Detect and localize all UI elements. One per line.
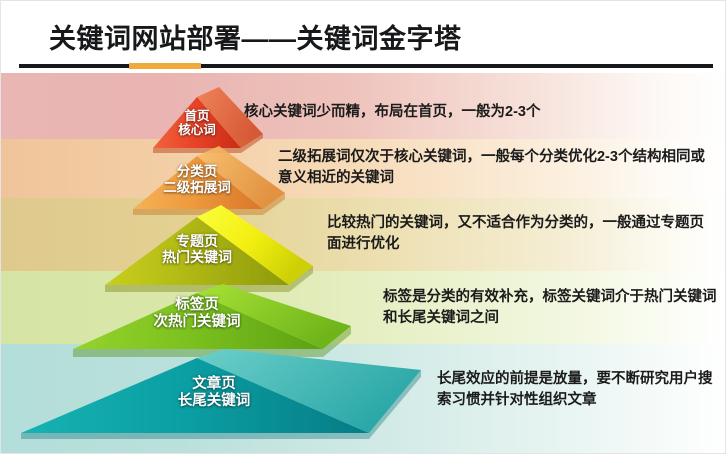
tier-label-line1: 分类页 <box>129 164 265 180</box>
slide-canvas: 关键词网站部署——关键词金字塔 <box>0 0 726 454</box>
tier-label-category: 分类页 二级拓展词 <box>129 164 265 195</box>
tier-label-line1: 首页 <box>153 109 241 123</box>
tier-label-line1: 标签页 <box>89 297 305 314</box>
tier-description-article: 长尾效应的前提是放量，要不断研究用户搜索习惯并针对性组织文章 <box>437 369 719 411</box>
tier-label-line1: 专题页 <box>109 233 285 249</box>
tier-description-tag: 标签是分类的有效补充，标签关键词介于热门关键词和长尾关键词之间 <box>383 287 719 329</box>
tier-description-special-topic: 比较热门的关键词，又不适合作为分类的，一般通过专题页面进行优化 <box>327 213 715 255</box>
tier-description-homepage: 核心关键词少而精，布局在首页，一般为2-3个 <box>244 102 714 123</box>
tier-label-line2: 次热门关键词 <box>89 314 305 331</box>
tier-label-line2: 长尾关键词 <box>79 393 349 410</box>
tier-label-line1: 文章页 <box>79 376 349 393</box>
tier-label-special-topic: 专题页 热门关键词 <box>109 233 285 265</box>
tier-label-line2: 核心词 <box>153 123 241 137</box>
tier-label-homepage: 首页 核心词 <box>153 109 241 138</box>
tier-label-tag: 标签页 次热门关键词 <box>89 297 305 330</box>
tier-label-article: 文章页 长尾关键词 <box>79 376 349 409</box>
tier-description-category: 二级拓展词仅次于核心关键词，一般每个分类优化2-3个结构相同或意义相近的关键词 <box>278 147 710 189</box>
tier-label-line2: 热门关键词 <box>109 249 285 265</box>
tier-label-line2: 二级拓展词 <box>129 180 265 196</box>
